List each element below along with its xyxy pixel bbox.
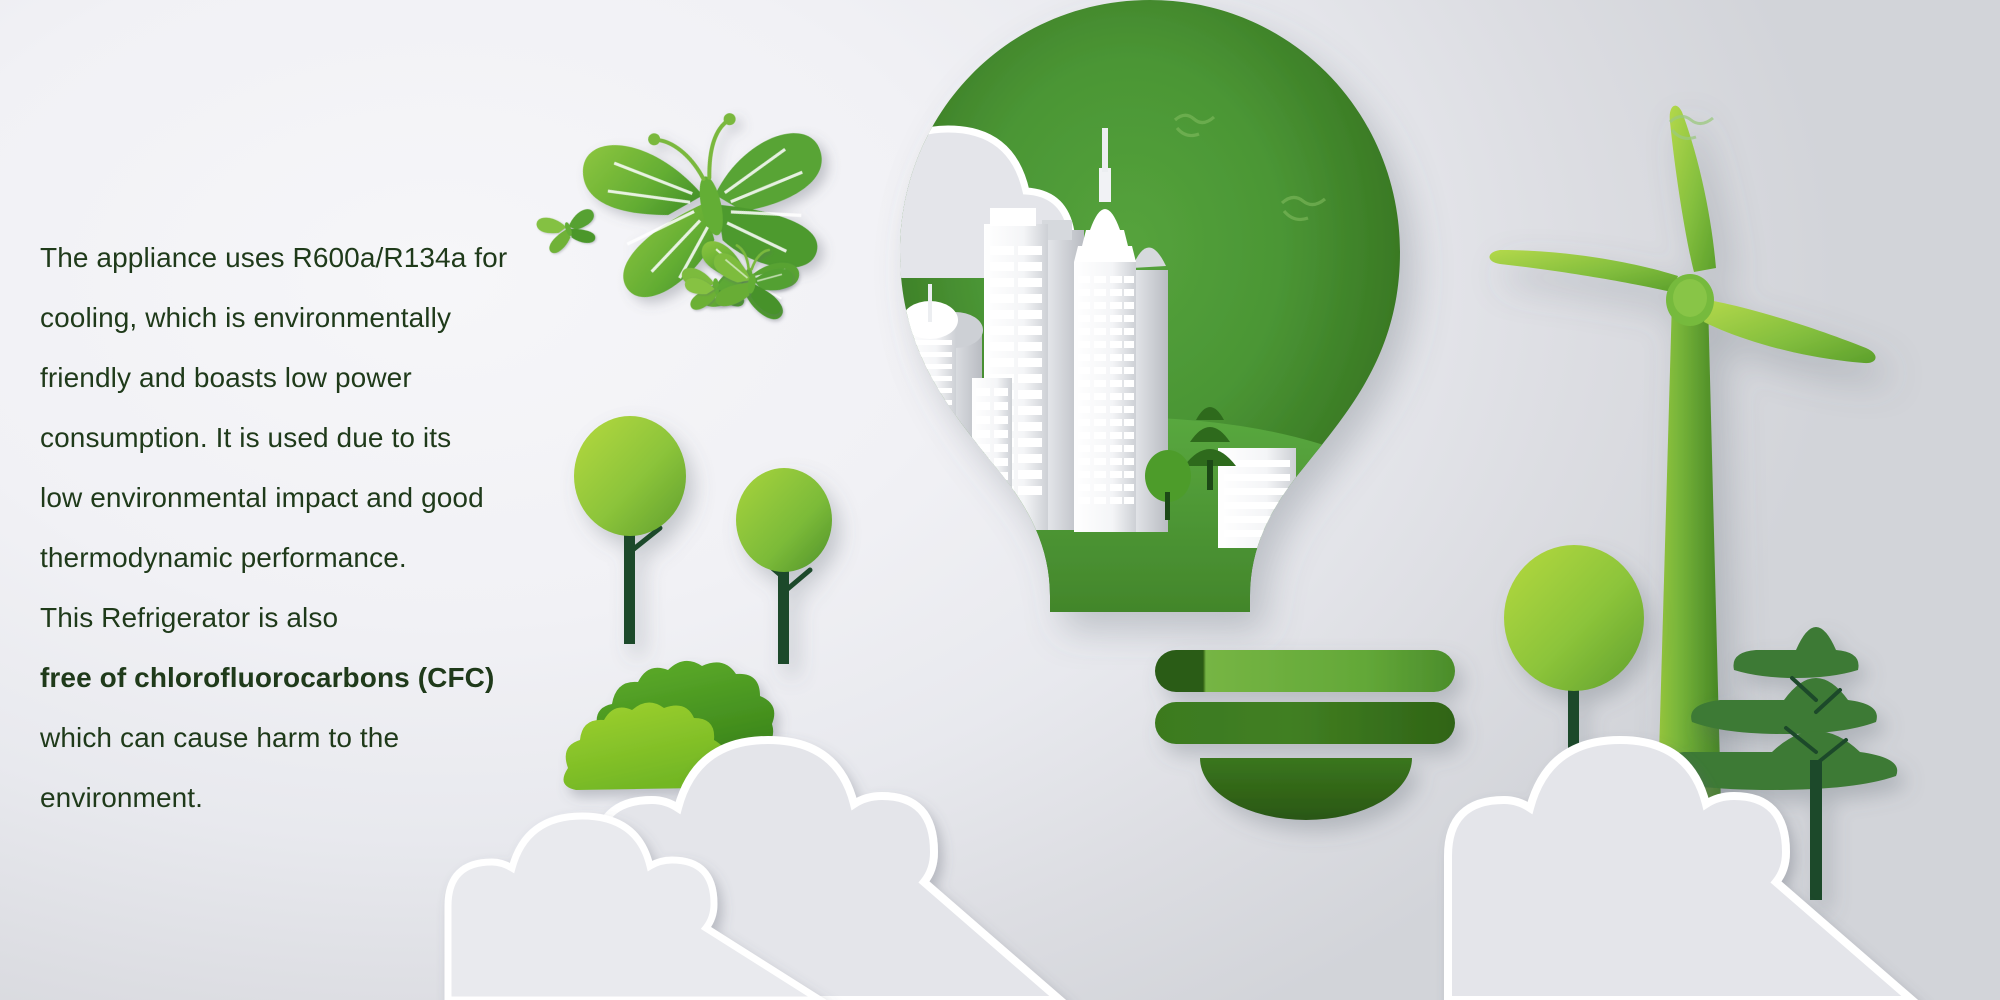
light-bulb — [770, 0, 1525, 640]
bird-icon — [1490, 168, 1525, 174]
tree-round-left — [574, 416, 686, 644]
turbine-blade-top — [1670, 106, 1716, 272]
turbine-hub-inner — [1673, 279, 1707, 317]
tree-canopy — [736, 468, 832, 572]
building-small-left — [902, 284, 983, 520]
building-body — [972, 378, 1012, 530]
building-setback-1 — [1074, 246, 1136, 262]
eco-illustration — [0, 0, 2000, 1000]
tree-round-mid — [736, 468, 832, 664]
turbine-blade-left — [1490, 250, 1679, 292]
base-bar — [1155, 650, 1455, 692]
illustration-canvas: The appliance uses R600a/R134a for cooli… — [0, 0, 2000, 1000]
butterfly-extra — [535, 202, 602, 256]
building-mid — [972, 378, 1012, 530]
pine-tier-2 — [1691, 678, 1877, 734]
bird-icon — [1400, 108, 1435, 114]
building-setback-2 — [1082, 230, 1128, 246]
turbine-blade-right — [1704, 300, 1876, 363]
building-crown-neck — [1099, 168, 1111, 202]
bulb-screw-base — [1155, 650, 1455, 820]
building-antenna — [928, 284, 932, 322]
pine-trunk — [1810, 760, 1822, 900]
base-bar — [1155, 702, 1455, 744]
building-spire — [1102, 128, 1108, 172]
base-tip — [1200, 758, 1412, 820]
building-body — [904, 320, 956, 520]
wing-upper-right — [706, 128, 830, 217]
building-cap — [990, 208, 1036, 226]
building-tall-center — [984, 208, 1084, 530]
tree-canopy — [1504, 545, 1644, 691]
butterfly-large — [577, 96, 844, 307]
antenna-tip — [647, 132, 661, 146]
pine-tier-1 — [1733, 627, 1858, 678]
